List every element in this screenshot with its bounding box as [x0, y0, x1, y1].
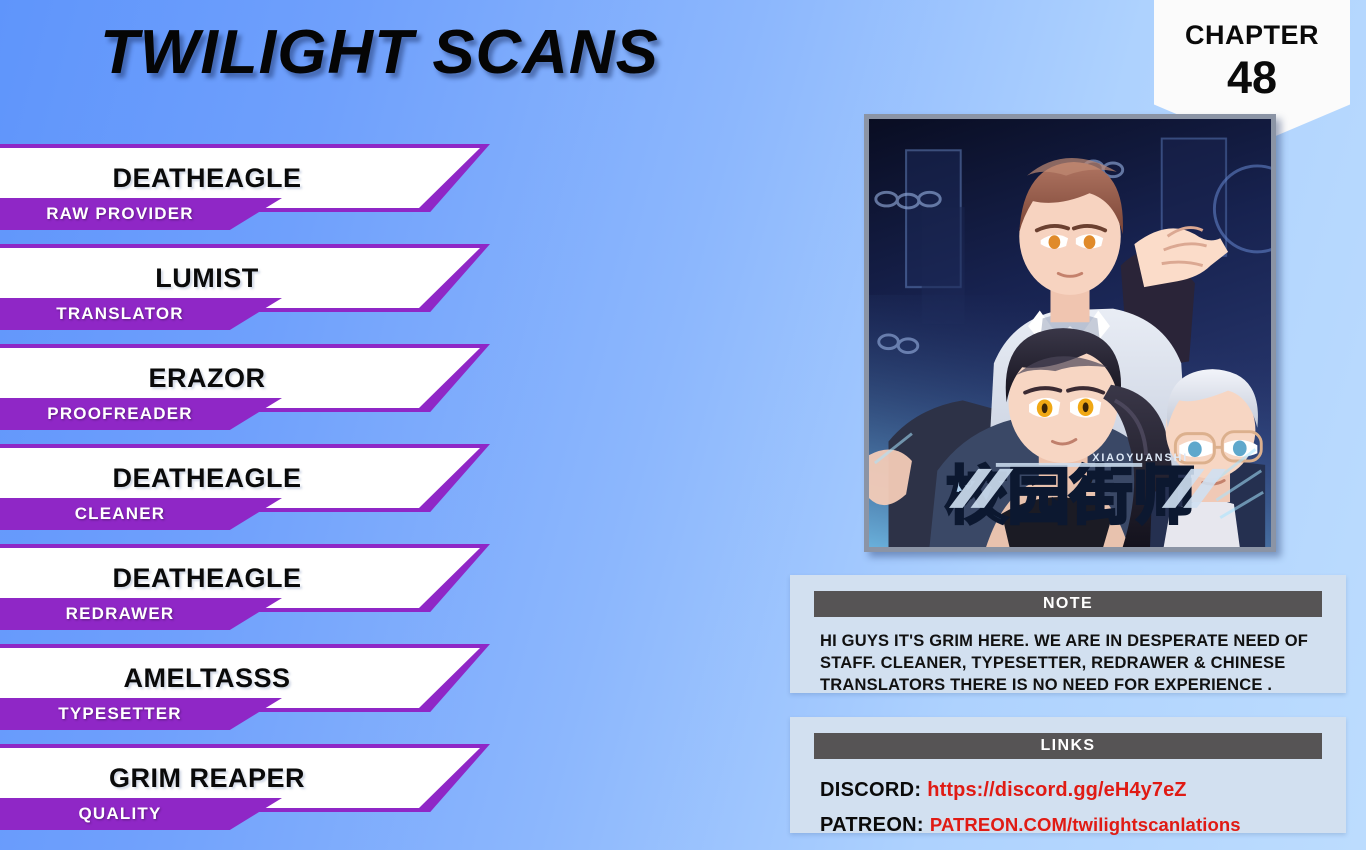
credit-role: TRANSLATOR: [0, 298, 282, 330]
chapter-number: 48: [1227, 55, 1277, 100]
links-panel: LINKS DISCORD: https://discord.gg/eH4y7e…: [790, 717, 1346, 833]
credit-row: LUMISTTRANSLATOR: [0, 244, 560, 344]
note-header-label: NOTE: [1043, 595, 1093, 613]
credits-page: TWILIGHT SCANS CHAPTER 48 DEATHEAGLERAW …: [0, 0, 1366, 850]
note-text: HI GUYS IT'S GRIM HERE. WE ARE IN DESPER…: [820, 631, 1322, 696]
credit-role: QUALITY: [0, 798, 282, 830]
credit-role-label: TRANSLATOR: [56, 304, 218, 324]
credit-role-label: REDRAWER: [66, 604, 209, 624]
credit-role: TYPESETTER: [0, 698, 282, 730]
cover-illustration: 校园街师 XIAOYUANSHI: [869, 119, 1271, 547]
credit-row: DEATHEAGLEREDRAWER: [0, 544, 560, 644]
patreon-url[interactable]: PATREON.COM/twilightscanlations: [930, 814, 1241, 836]
credit-role-label: TYPESETTER: [58, 704, 215, 724]
credit-role: REDRAWER: [0, 598, 282, 630]
credit-role: RAW PROVIDER: [0, 198, 282, 230]
credit-role-label: CLEANER: [75, 504, 200, 524]
credit-row: GRIM REAPERQUALITY: [0, 744, 560, 844]
credit-role-label: PROOFREADER: [47, 404, 226, 424]
patreon-label: PATREON:: [820, 814, 924, 837]
credit-role-label: QUALITY: [78, 804, 195, 824]
credit-row: DEATHEAGLERAW PROVIDER: [0, 144, 560, 244]
credit-role: PROOFREADER: [0, 398, 282, 430]
links-header: LINKS: [814, 733, 1322, 759]
note-panel: NOTE HI GUYS IT'S GRIM HERE. WE ARE IN D…: [790, 575, 1346, 693]
discord-url[interactable]: https://discord.gg/eH4y7eZ: [927, 779, 1186, 802]
credit-role: CLEANER: [0, 498, 282, 530]
credit-row: AMELTASSSTYPESETTER: [0, 644, 560, 744]
note-header: NOTE: [814, 591, 1322, 617]
cover-art: 校园街师 XIAOYUANSHI: [864, 114, 1276, 552]
discord-link-row[interactable]: DISCORD: https://discord.gg/eH4y7eZ: [820, 779, 1346, 802]
patreon-link-row[interactable]: PATREON: PATREON.COM/twilightscanlations: [820, 814, 1346, 837]
credit-role-label: RAW PROVIDER: [46, 204, 228, 224]
cover-title-romaji: XIAOYUANSHI: [1092, 452, 1188, 464]
credit-row: ERAZORPROOFREADER: [0, 344, 560, 444]
credits-list: DEATHEAGLERAW PROVIDERLUMISTTRANSLATORER…: [0, 144, 560, 844]
credit-row: DEATHEAGLECLEANER: [0, 444, 560, 544]
discord-label: DISCORD:: [820, 779, 921, 802]
chapter-label: CHAPTER: [1185, 20, 1319, 51]
links-header-label: LINKS: [1041, 737, 1096, 755]
site-title: TWILIGHT SCANS: [100, 22, 659, 84]
